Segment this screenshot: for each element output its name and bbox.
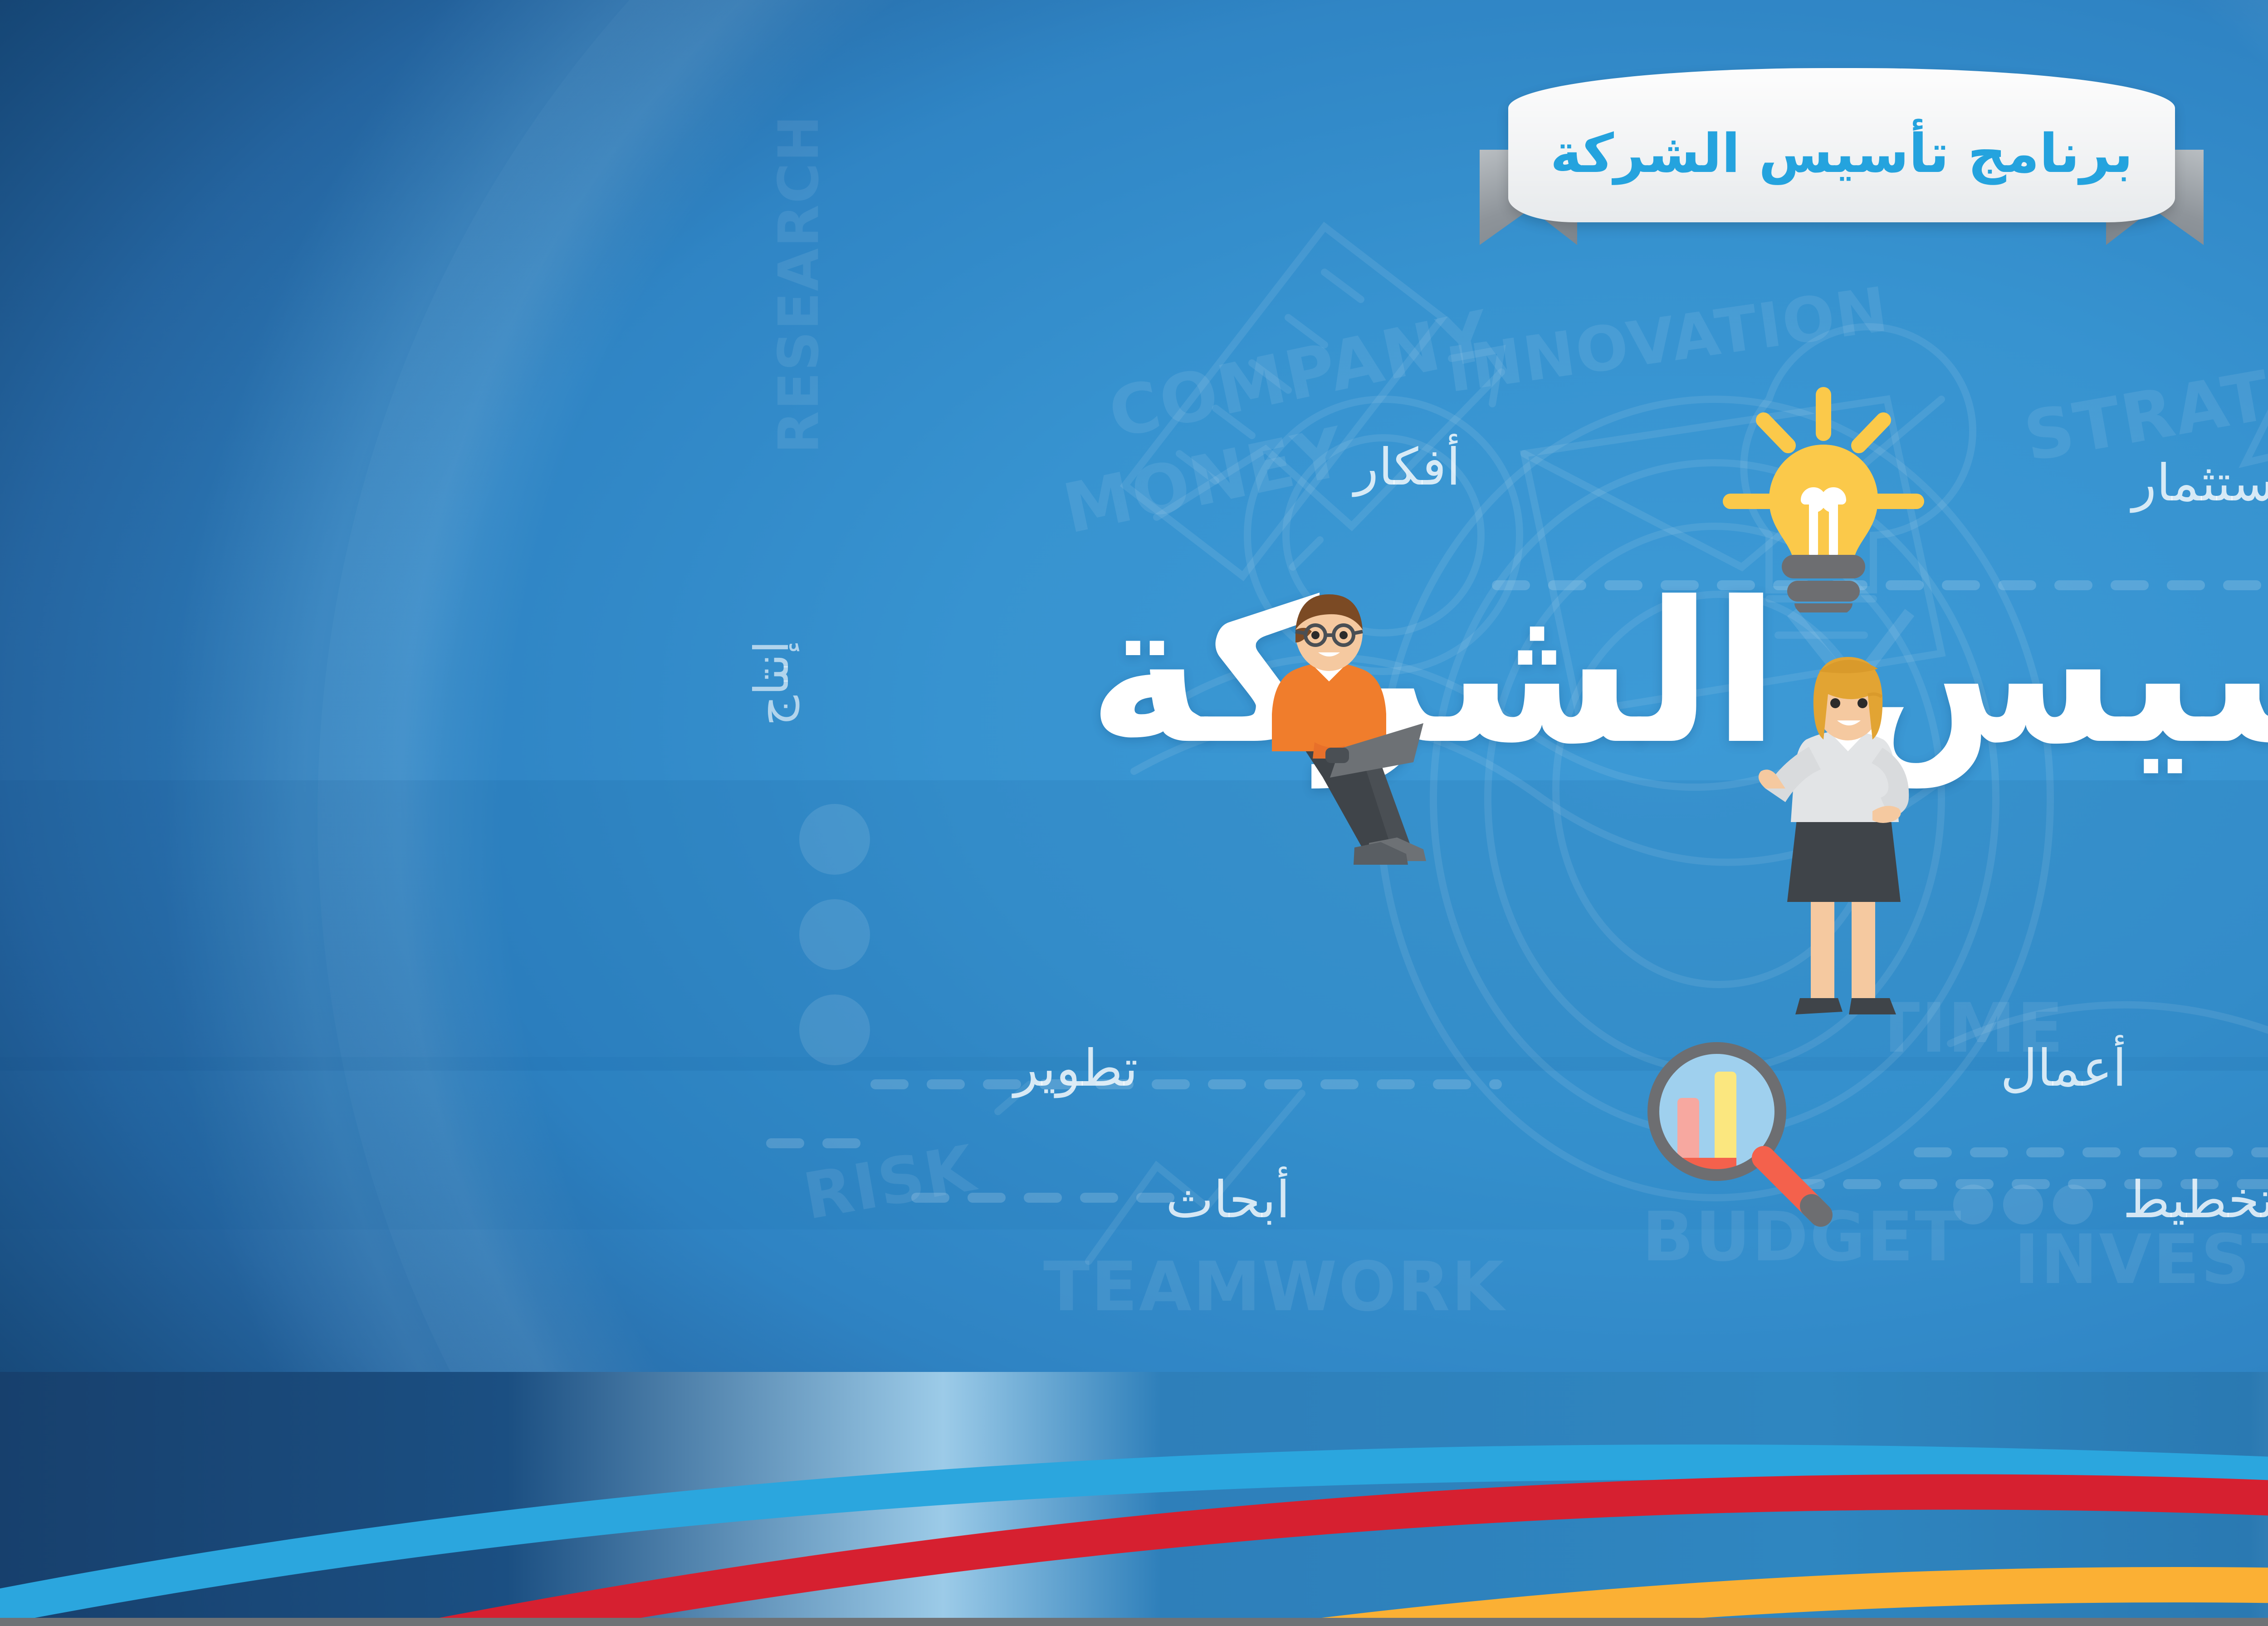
- watermark-word: MONEY: [1057, 412, 1352, 549]
- ribbon-label: برنامج تأسيس الشركة: [1550, 122, 2133, 185]
- keyword-istithmar: استثمار: [2132, 454, 2268, 513]
- vertical-word-left: إنتاج: [744, 641, 799, 726]
- keyword-takhteet: تخطيط: [2123, 1171, 2268, 1229]
- magnifier-chart-icon: [1619, 1039, 1855, 1239]
- keyword-aamaal: أعمال: [2000, 1039, 2126, 1098]
- footer-bar: [0, 1618, 2268, 1626]
- watermark-word: TEAMWORK: [1043, 1248, 1505, 1327]
- businesswoman-figure: [1751, 653, 1946, 1043]
- watermark-word: INVESTMENT: [2014, 1220, 2268, 1299]
- man-with-laptop-figure: [1225, 590, 1433, 957]
- bottom-arcs: [0, 1372, 2268, 1626]
- banner-artwork: COMPANYMONEYRESEARCHINNOVATIONSTRATEGYPL…: [0, 0, 2268, 1626]
- lightbulb-icon: [1706, 377, 1941, 612]
- watermark-word: RESEARCH: [767, 114, 831, 454]
- keyword-abhath: أبحاث: [1166, 1171, 1290, 1229]
- watermark-word: COMPANY: [1102, 296, 1498, 454]
- watermark-word: RISK: [798, 1131, 981, 1234]
- keyword-tatweer: تطوير: [1014, 1039, 1138, 1098]
- ribbon-banner: برنامج تأسيس الشركة: [1483, 68, 2200, 250]
- ribbon-body: برنامج تأسيس الشركة: [1508, 68, 2175, 222]
- keyword-afkar: أفكار: [1354, 438, 1461, 497]
